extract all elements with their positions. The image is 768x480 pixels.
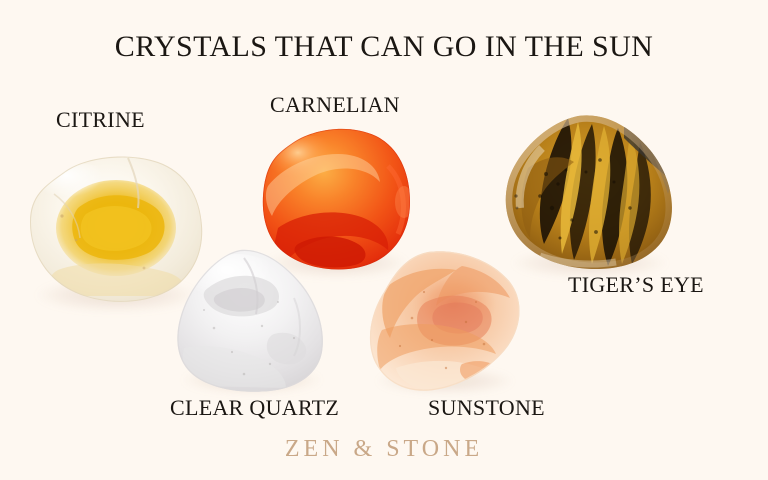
stone-label-clear-quartz: CLEAR QUARTZ bbox=[170, 395, 339, 421]
stone-tigers-eye bbox=[500, 112, 680, 274]
page-title: CRYSTALS THAT CAN GO IN THE SUN bbox=[0, 30, 768, 64]
stone-label-carnelian: CARNELIAN bbox=[270, 92, 400, 118]
stone-label-tigers-eye: TIGER’S EYE bbox=[568, 272, 704, 298]
brand-watermark: ZEN & STONE bbox=[0, 436, 768, 463]
poster-canvas: CRYSTALS THAT CAN GO IN THE SUN bbox=[0, 0, 768, 480]
stone-label-citrine: CITRINE bbox=[56, 107, 145, 133]
stone-label-sunstone: SUNSTONE bbox=[428, 395, 545, 421]
stone-clear-quartz bbox=[174, 248, 330, 394]
stone-sunstone bbox=[366, 248, 524, 394]
